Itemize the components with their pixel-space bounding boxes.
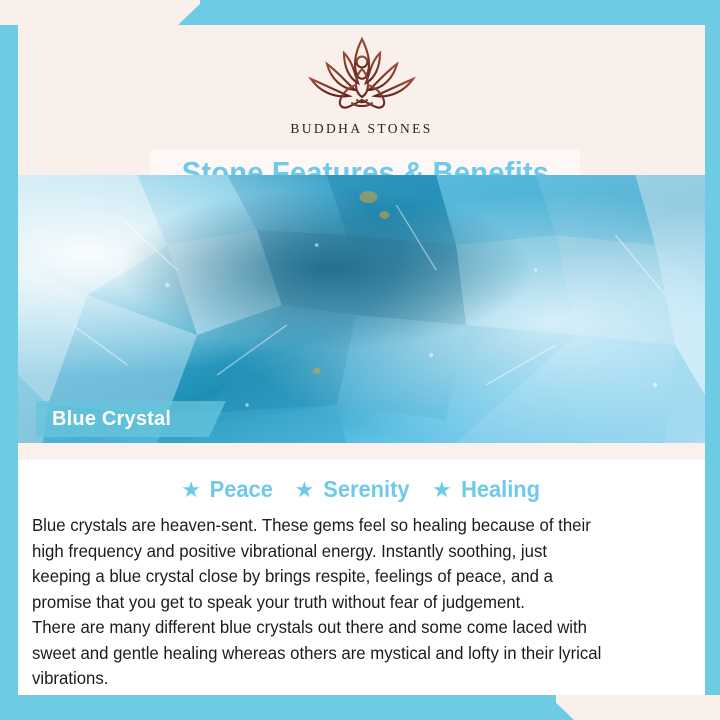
paragraph-line: Blue crystals are heaven-sent. These gem… (32, 513, 671, 539)
feature-item-healing: ★ Healing (432, 476, 542, 503)
paragraph-line: promise that you get to speak your truth… (32, 590, 671, 616)
feature-item-serenity: ★ Serenity (294, 476, 412, 503)
lotus-meditation-icon (297, 31, 427, 123)
hero-image: Blue Crystal (18, 175, 705, 443)
feature-label: Serenity (323, 476, 409, 503)
right-blue-band (705, 25, 720, 695)
hero-caption-banner: Blue Crystal (36, 401, 226, 437)
section-divider (18, 443, 705, 460)
star-icon: ★ (432, 479, 452, 501)
paragraph-line: high frequency and positive vibrational … (32, 539, 671, 565)
feature-list: ★ Peace ★ Serenity ★ Healing (18, 460, 705, 503)
infographic-page: BUDDHA STONES Stone Features & Benefits (0, 0, 720, 720)
hero-caption-text: Blue Crystal (52, 408, 171, 431)
star-icon: ★ (294, 479, 314, 501)
feature-item-peace: ★ Peace (181, 476, 274, 503)
paragraph-line: There are many different blue crystals o… (32, 615, 671, 641)
bottom-blue-band (0, 695, 556, 720)
paragraph-line: sweet and gentle healing whereas others … (32, 641, 671, 667)
left-blue-band (0, 25, 18, 695)
paragraph-line: keeping a blue crystal close by brings r… (32, 564, 671, 590)
content-card: BUDDHA STONES Stone Features & Benefits (18, 25, 705, 695)
paragraph-line: vibrations. (32, 666, 671, 692)
feature-label: Peace (210, 476, 273, 503)
brand-name: BUDDHA STONES (272, 121, 452, 137)
brand-logo: BUDDHA STONES (272, 31, 452, 137)
feature-label: Healing (461, 476, 540, 503)
description-text: Blue crystals are heaven-sent. These gem… (18, 503, 705, 692)
body-panel: ★ Peace ★ Serenity ★ Healing Blue crysta… (18, 460, 705, 695)
top-blue-band (200, 0, 720, 25)
star-icon: ★ (181, 479, 201, 501)
top-blue-band-notch (178, 0, 204, 25)
